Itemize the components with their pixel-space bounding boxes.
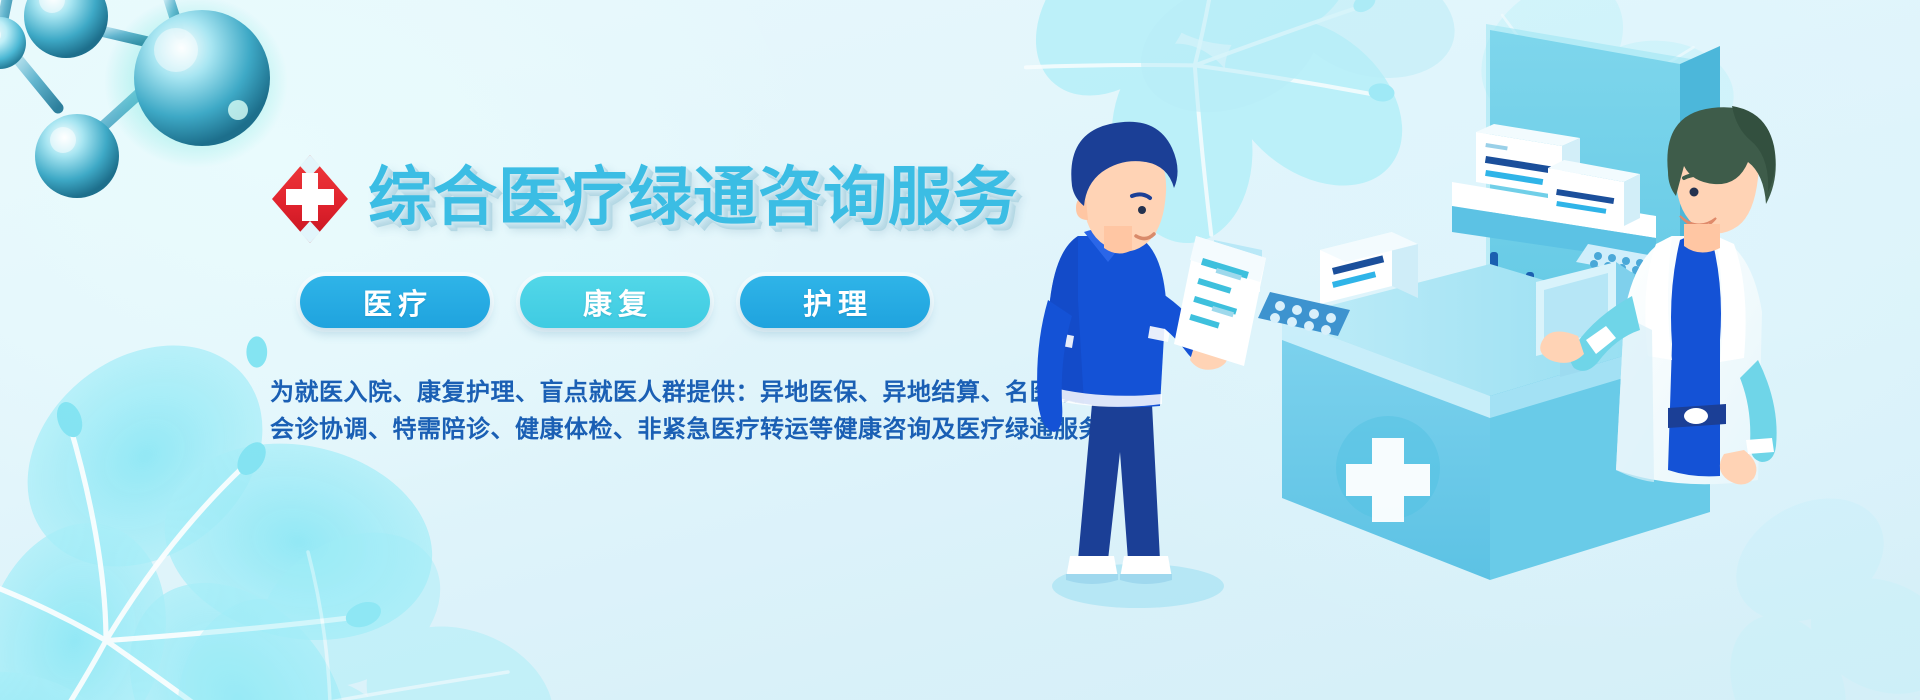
page-title: 综合医疗绿通咨询服务 (368, 166, 1018, 230)
tag-pill-rehabilitation[interactable]: 康复 (520, 276, 710, 328)
tag-list: 医疗 康复 护理 (300, 276, 1008, 328)
description-line-1: 为就医入院、康复护理、盲点就医人群提供：异地医保、异地结算、名医预约 (270, 374, 1008, 411)
prescription-paper (1174, 236, 1266, 366)
patient-holding-prescription (1037, 122, 1266, 608)
molecule-3d-icon (0, 0, 300, 210)
flower-petal-icon (160, 470, 580, 700)
title-row: 综合医疗绿通咨询服务 (268, 150, 1008, 246)
medical-cross-diamond-icon (268, 153, 352, 245)
description-block: 为就医入院、康复护理、盲点就医人群提供：异地医保、异地结算、名医预约 会诊协调、… (270, 374, 1008, 448)
medical-service-banner: 综合医疗绿通咨询服务 医疗 康复 护理 为就医入院、康复护理、盲点就医人群提供：… (0, 0, 1920, 700)
pharmacy-counter-illustration (1020, 0, 1920, 700)
banner-content: 综合医疗绿通咨询服务 医疗 康复 护理 为就医入院、康复护理、盲点就医人群提供：… (268, 150, 1008, 448)
tag-pill-medical[interactable]: 医疗 (300, 276, 490, 328)
description-line-2: 会诊协调、特需陪诊、健康体检、非紧急医疗转运等健康咨询及医疗绿通服务。 (270, 411, 1008, 448)
tag-pill-nursing[interactable]: 护理 (740, 276, 930, 328)
